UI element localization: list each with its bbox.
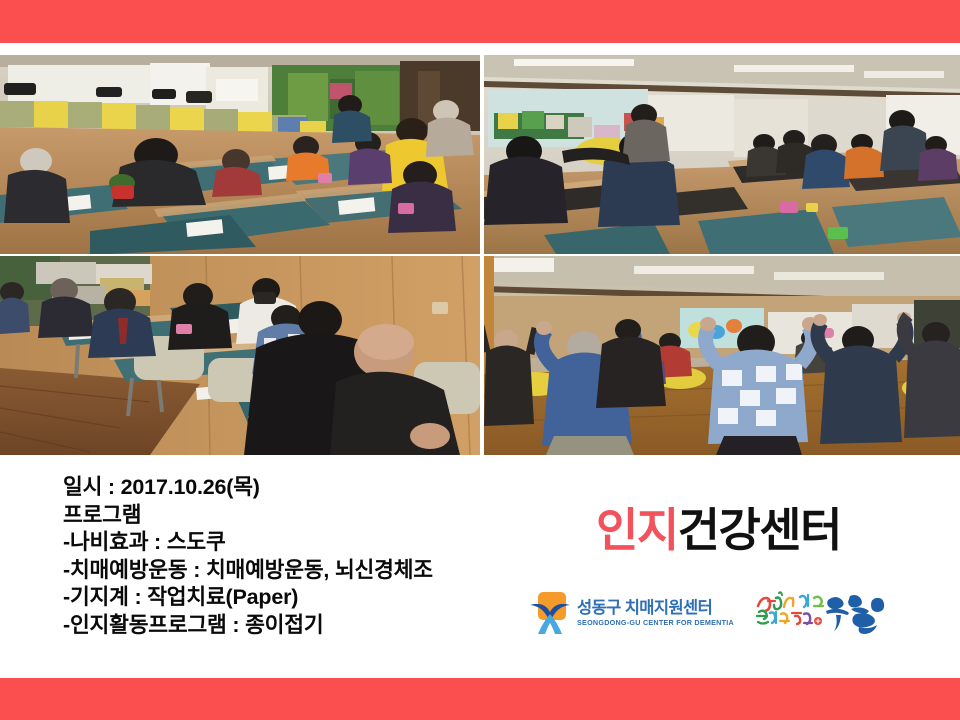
center-title-accent: 인지: [596, 503, 678, 557]
logo-row: 성동구 치매지원센터 SEONGDONG-GU CENTER FOR DEMEN…: [530, 586, 910, 640]
photo-top-right: 밝은 강의실에서 여러 어르신이 책상에 둘러앉아 활동하는 모습: [484, 55, 960, 254]
dementia-center-name-en: SEONGDONG-GU CENTER FOR DEMENTIA: [577, 619, 734, 626]
presentation-slide: 어르신들이 청록색 책상에 앉아 학습지를 풀고 있는 모습: [0, 0, 960, 720]
dementia-center-mark-icon: [530, 592, 570, 634]
seongdong-city-logo: [752, 590, 892, 636]
program-item-2: -치매예방운동 : 치매예방운동, 뇌신경체조: [63, 557, 533, 585]
dementia-center-logo: 성동구 치매지원센터 SEONGDONG-GU CENTER FOR DEMEN…: [530, 592, 734, 634]
photo-bottom-right: 어르신들이 서서 두 팔을 들고 치매예방체조를 하는 모습: [484, 256, 960, 455]
bottom-accent-bar: [0, 678, 960, 720]
date-line: 일시 : 2017.10.26(목): [63, 474, 533, 502]
photo-bottom-left: 어르신들이 책상에서 작업치료 종이 활동을 하는 근접 사진: [0, 256, 480, 455]
photo-grid: 어르신들이 청록색 책상에 앉아 학습지를 풀고 있는 모습: [0, 55, 960, 455]
dementia-center-name-kr: 성동구 치매지원센터: [577, 600, 734, 617]
photo-top-left: 어르신들이 청록색 책상에 앉아 학습지를 풀고 있는 모습: [0, 55, 480, 254]
center-title: 인지건강센터: [596, 504, 841, 556]
program-info-block: 일시 : 2017.10.26(목) 프로그램 -나비효과 : 스도쿠 -치매예…: [63, 474, 533, 639]
program-item-3: -기지계 : 작업치료(Paper): [63, 584, 533, 612]
program-item-1: -나비효과 : 스도쿠: [63, 529, 533, 557]
program-heading: 프로그램: [63, 502, 533, 530]
top-accent-bar: [0, 0, 960, 43]
dementia-center-wordmark: 성동구 치매지원센터 SEONGDONG-GU CENTER FOR DEMEN…: [577, 600, 734, 627]
program-item-4: -인지활동프로그램 : 종이접기: [63, 612, 533, 640]
center-title-plain: 건강센터: [678, 503, 841, 557]
